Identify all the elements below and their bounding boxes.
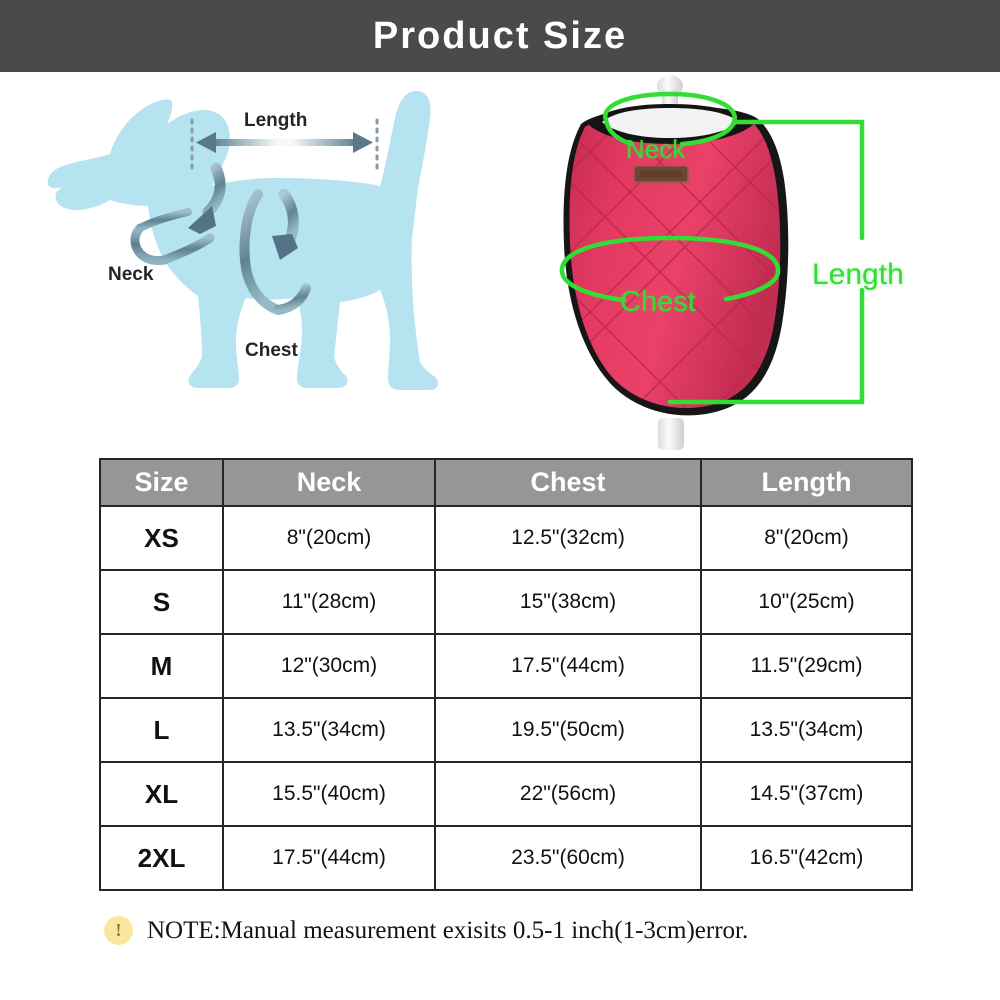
column-header-neck: Neck — [223, 459, 435, 506]
cell-size: S — [100, 570, 223, 634]
table-row: XS 8"(20cm) 12.5"(32cm) 8"(20cm) — [100, 506, 912, 570]
table-row: 2XL 17.5"(44cm) 23.5"(60cm) 16.5"(42cm) — [100, 826, 912, 890]
exclamation-icon: ! — [104, 916, 133, 945]
diagram-area: Length Neck Chest — [0, 72, 1000, 450]
cell-length: 13.5"(34cm) — [701, 698, 912, 762]
photo-chest-label: Chest — [620, 286, 696, 319]
product-photo: Neck Chest Length — [540, 72, 980, 450]
cell-length: 11.5"(29cm) — [701, 634, 912, 698]
pink-quilted-dog-vest-photo — [540, 72, 980, 450]
photo-length-label: Length — [812, 258, 904, 292]
cell-size: L — [100, 698, 223, 762]
cell-length: 8"(20cm) — [701, 506, 912, 570]
table-header-row: Size Neck Chest Length — [100, 459, 912, 506]
dog-length-label: Length — [244, 110, 307, 132]
cell-length: 10"(25cm) — [701, 570, 912, 634]
table-row: XL 15.5"(40cm) 22"(56cm) 14.5"(37cm) — [100, 762, 912, 826]
dog-chest-label: Chest — [245, 340, 298, 362]
cell-size: XS — [100, 506, 223, 570]
note-text: NOTE:Manual measurement exisits 0.5-1 in… — [147, 917, 748, 945]
brand-tag-icon — [634, 166, 688, 182]
column-header-chest: Chest — [435, 459, 701, 506]
cell-length: 14.5"(37cm) — [701, 762, 912, 826]
column-header-size: Size — [100, 459, 223, 506]
cell-neck: 12"(30cm) — [223, 634, 435, 698]
dog-neck-label: Neck — [108, 264, 153, 286]
cell-size: M — [100, 634, 223, 698]
page-title: Product Size — [373, 15, 627, 58]
photo-neck-label: Neck — [626, 134, 685, 165]
cell-chest: 22"(56cm) — [435, 762, 701, 826]
cell-length: 16.5"(42cm) — [701, 826, 912, 890]
dog-measurement-diagram: Length Neck Chest — [40, 82, 520, 442]
note-row: ! NOTE:Manual measurement exisits 0.5-1 … — [104, 916, 748, 945]
cell-neck: 13.5"(34cm) — [223, 698, 435, 762]
size-chart-table: Size Neck Chest Length XS 8"(20cm) 12.5"… — [99, 458, 913, 891]
cell-chest: 23.5"(60cm) — [435, 826, 701, 890]
table-row: S 11"(28cm) 15"(38cm) 10"(25cm) — [100, 570, 912, 634]
cell-size: 2XL — [100, 826, 223, 890]
cell-neck: 8"(20cm) — [223, 506, 435, 570]
cell-chest: 12.5"(32cm) — [435, 506, 701, 570]
cell-size: XL — [100, 762, 223, 826]
cell-chest: 19.5"(50cm) — [435, 698, 701, 762]
dog-silhouette-icon — [40, 82, 520, 442]
cell-neck: 17.5"(44cm) — [223, 826, 435, 890]
cell-neck: 11"(28cm) — [223, 570, 435, 634]
cell-chest: 17.5"(44cm) — [435, 634, 701, 698]
table-row: L 13.5"(34cm) 19.5"(50cm) 13.5"(34cm) — [100, 698, 912, 762]
cell-chest: 15"(38cm) — [435, 570, 701, 634]
column-header-length: Length — [701, 459, 912, 506]
header-bar: Product Size — [0, 0, 1000, 72]
cell-neck: 15.5"(40cm) — [223, 762, 435, 826]
table-row: M 12"(30cm) 17.5"(44cm) 11.5"(29cm) — [100, 634, 912, 698]
